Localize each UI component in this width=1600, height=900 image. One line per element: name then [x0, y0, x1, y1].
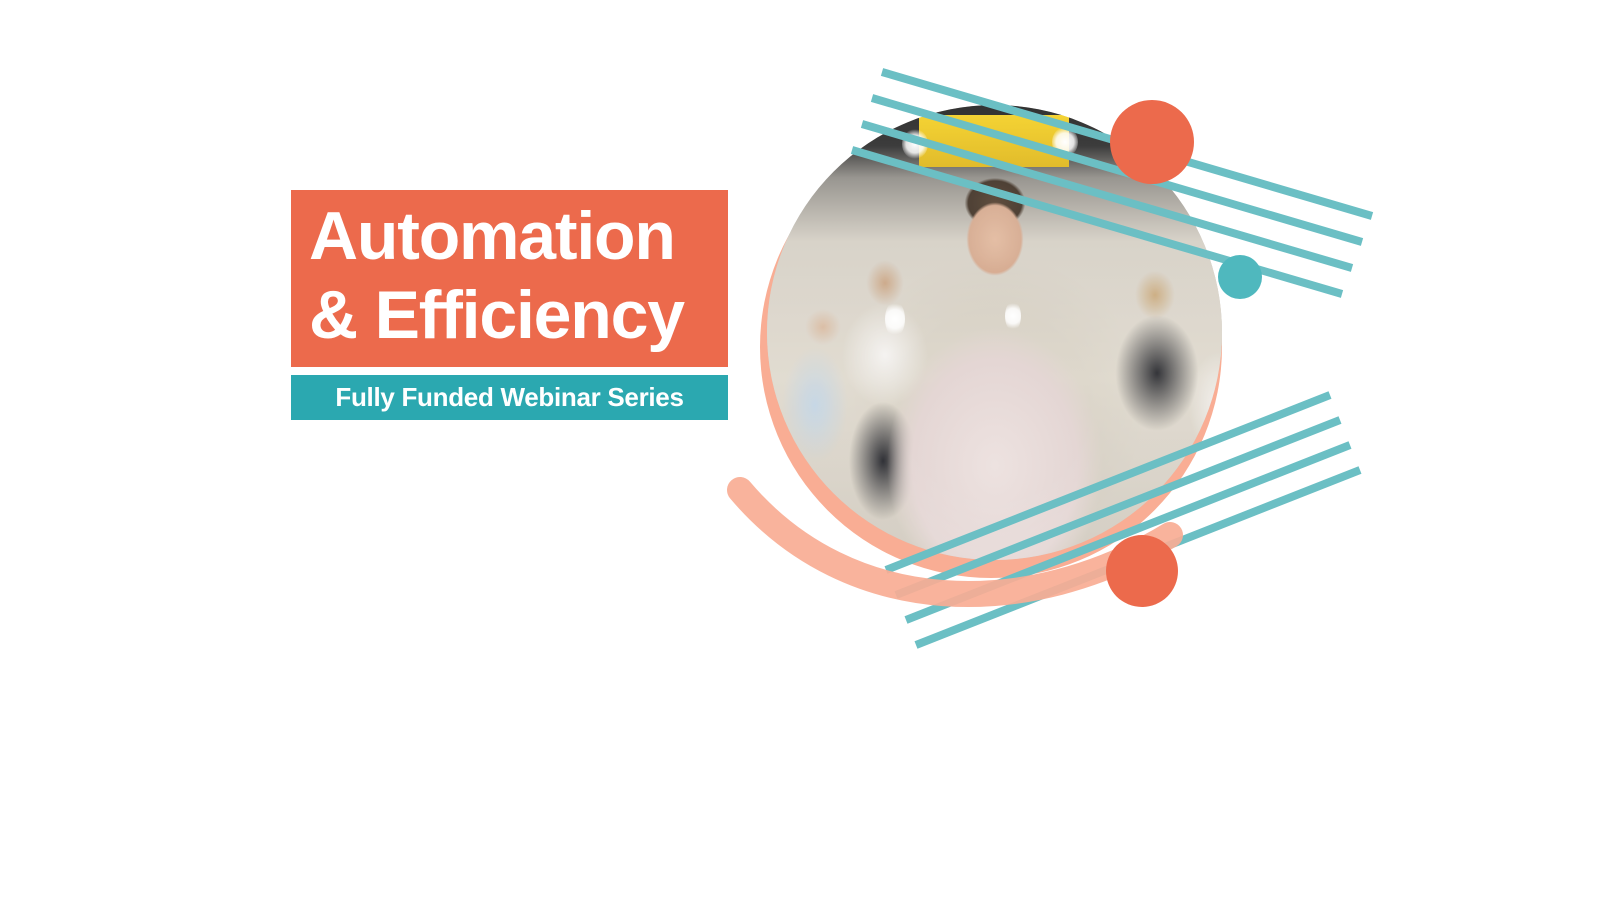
circle-orange-bottom [1106, 535, 1178, 607]
headline-block: Automation & Efficiency [291, 190, 728, 367]
circle-orange-top [1110, 100, 1194, 184]
subtitle-block: Fully Funded Webinar Series [291, 375, 728, 420]
stripes-bottom-left [886, 395, 1360, 645]
decorative-shapes [700, 20, 1420, 660]
subtitle-text: Fully Funded Webinar Series [335, 382, 683, 412]
stripes-top-right [852, 72, 1372, 294]
hero-graphic [700, 20, 1420, 660]
headline-line-2: & Efficiency [309, 276, 710, 355]
circle-teal-small [1218, 255, 1262, 299]
headline-line-1: Automation [309, 197, 710, 276]
promo-banner: Automation & Efficiency Fully Funded Web… [0, 0, 1600, 900]
